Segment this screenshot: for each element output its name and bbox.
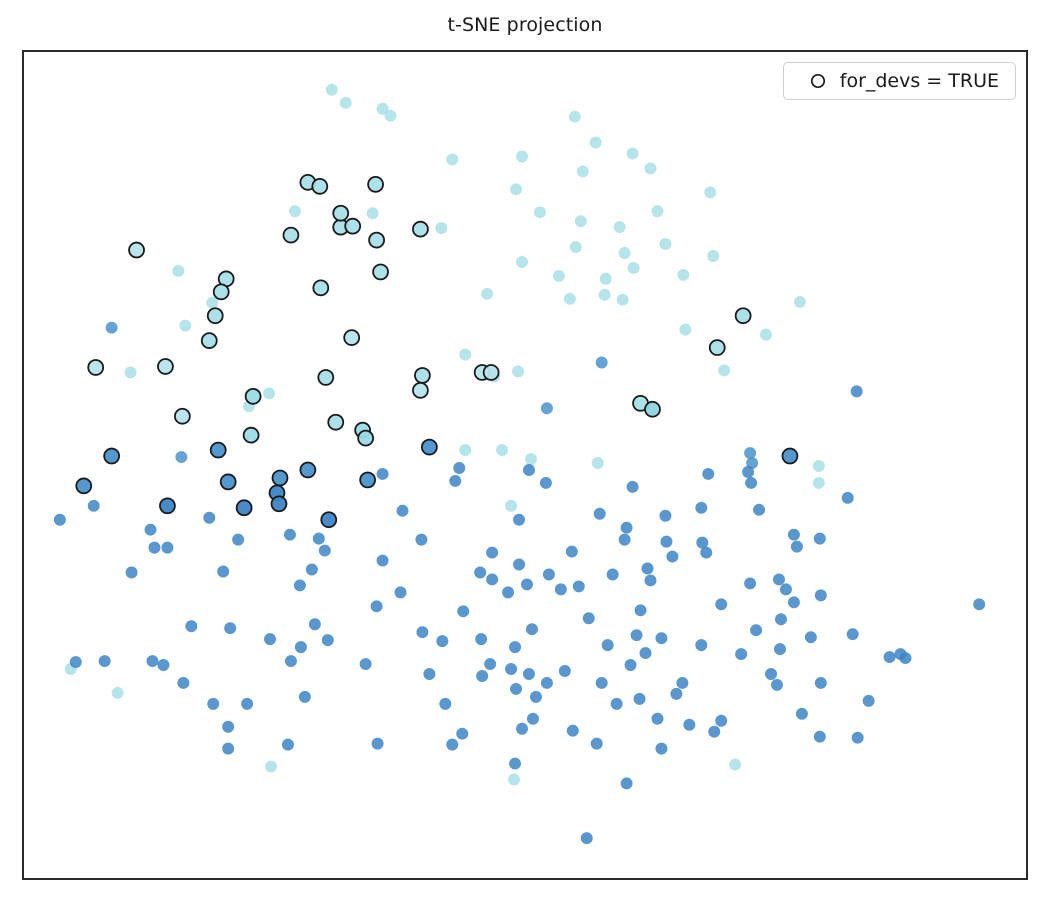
scatter-point: [265, 761, 277, 773]
scatter-point: [744, 447, 756, 459]
scatter-point: [607, 568, 619, 580]
scatter-point: [715, 598, 727, 610]
scatter-point: [513, 514, 525, 526]
scatter-point: [246, 389, 261, 404]
plot-area: for_devs = TRUE: [22, 50, 1028, 880]
scatter-point: [679, 324, 691, 336]
scatter-point: [224, 622, 236, 634]
scatter-point: [973, 598, 985, 610]
scatter-point: [436, 635, 448, 647]
scatter-point: [676, 677, 688, 689]
scatter-point: [416, 626, 428, 638]
scatter-point: [160, 498, 175, 513]
scatter-point: [126, 567, 138, 579]
scatter-point: [88, 360, 103, 375]
scatter-point: [851, 385, 863, 397]
scatter-point: [175, 451, 187, 463]
scatter-point: [372, 738, 384, 750]
scatter-point: [530, 691, 542, 703]
scatter-point: [371, 600, 383, 612]
scatter-point: [232, 534, 244, 546]
scatter-point: [263, 387, 275, 399]
scatter-point: [621, 777, 633, 789]
scatter-point: [510, 183, 522, 195]
scatter-point: [333, 206, 348, 221]
scatter-point: [385, 110, 397, 122]
scatter-point: [573, 580, 585, 592]
scatter-point: [526, 623, 538, 635]
scatter-point: [635, 604, 647, 616]
scatter-point: [707, 250, 719, 262]
scatter-point: [474, 567, 486, 579]
scatter-point: [596, 357, 608, 369]
scatter-point: [395, 586, 407, 598]
scatter-point: [244, 428, 259, 443]
scatter-point: [508, 774, 520, 786]
scatter-point: [300, 463, 315, 478]
scatter-point: [521, 578, 533, 590]
scatter-point: [88, 500, 100, 512]
scatter-point: [583, 612, 595, 624]
scatter-point: [435, 222, 447, 234]
scatter-point: [284, 529, 296, 541]
scatter-point: [423, 668, 435, 680]
scatter-point: [774, 643, 786, 655]
scatter-point: [619, 247, 631, 259]
scatter-point: [577, 165, 589, 177]
scatter-point: [312, 179, 327, 194]
scatter-point: [659, 238, 671, 250]
scatter-point: [158, 359, 173, 374]
scatter-point: [634, 693, 646, 705]
scatter-point: [369, 233, 384, 248]
scatter-point: [773, 573, 785, 585]
scatter-point: [125, 366, 137, 378]
scatter-point: [813, 477, 825, 489]
scatter-point: [708, 726, 720, 738]
scatter-point: [217, 566, 229, 578]
scatter-point: [782, 449, 797, 464]
scatter-point: [655, 743, 667, 755]
scatter-point: [729, 759, 741, 771]
scatter-point: [313, 280, 328, 295]
scatter-point: [760, 329, 772, 341]
scatter-point: [775, 613, 787, 625]
scatter-point: [592, 457, 604, 469]
scatter-point: [368, 177, 383, 192]
scatter-point: [543, 568, 555, 580]
scatter-point: [222, 721, 234, 733]
scatter-point: [700, 547, 712, 559]
scatter-point: [895, 648, 907, 660]
scatter-point: [569, 111, 581, 123]
scatter-point: [161, 542, 173, 554]
scatter-point: [237, 500, 252, 515]
scatter-point: [211, 443, 226, 458]
scatter-point: [611, 698, 623, 710]
scatter-point: [523, 464, 535, 476]
scatter-point: [397, 505, 409, 517]
scatter-point: [541, 677, 553, 689]
scatter-point: [283, 228, 298, 243]
legend-marker-open-circle-icon: [796, 72, 840, 90]
scatter-point: [631, 629, 643, 641]
scatter-point: [660, 536, 672, 548]
scatter-plot-svg: [24, 52, 1026, 878]
scatter-point: [813, 460, 825, 472]
scatter-point: [651, 713, 663, 725]
scatter-point: [509, 641, 521, 653]
scatter-point: [289, 205, 301, 217]
scatter-point: [309, 618, 321, 630]
scatter-point: [177, 677, 189, 689]
scatter-point: [628, 262, 640, 274]
scatter-point: [516, 151, 528, 163]
scatter-point: [645, 162, 657, 174]
scatter-point: [157, 659, 169, 671]
scatter-point: [863, 695, 875, 707]
scatter-point: [505, 663, 517, 675]
scatter-point: [590, 137, 602, 149]
legend-label: for_devs = TRUE: [840, 70, 999, 92]
scatter-point: [202, 333, 217, 348]
scatter-point: [527, 713, 539, 725]
scatter-point: [241, 698, 253, 710]
scatter-point: [175, 409, 190, 424]
scatter-point: [185, 620, 197, 632]
scatter-point: [677, 269, 689, 281]
scatter-point: [670, 688, 682, 700]
scatter-point: [627, 481, 639, 493]
scatter-point: [640, 647, 652, 659]
scatter-point: [513, 559, 525, 571]
scatter-point: [272, 496, 287, 511]
scatter-point: [273, 470, 288, 485]
scatter-point: [449, 475, 461, 487]
scatter-point: [481, 288, 493, 300]
scatter-point: [214, 284, 229, 299]
scatter-point: [540, 477, 552, 489]
scatter-point: [884, 651, 896, 663]
scatter-point: [502, 586, 514, 598]
scatter-point: [208, 308, 223, 323]
scatter-point: [559, 665, 571, 677]
scatter-point: [625, 659, 637, 671]
scatter-point: [453, 462, 465, 474]
scatter-point: [475, 633, 487, 645]
scatter-point: [852, 732, 864, 744]
scatter-point: [745, 477, 757, 489]
scatter-point: [814, 731, 826, 743]
scatter-point: [147, 655, 159, 667]
scatter-point: [771, 679, 783, 691]
scatter-point: [553, 270, 565, 282]
scatter-point: [655, 632, 667, 644]
scatter-point: [221, 474, 236, 489]
scatter-point: [328, 415, 343, 430]
scatter-point: [541, 402, 553, 414]
scatter-point: [735, 648, 747, 660]
scatter-point: [104, 449, 119, 464]
scatter-point: [512, 365, 524, 377]
scatter-point: [651, 205, 663, 217]
scatter-point: [599, 289, 611, 301]
scatter-point: [360, 472, 375, 487]
scatter-point: [794, 296, 806, 308]
scatter-point: [780, 583, 792, 595]
scatter-point: [555, 583, 567, 595]
scatter-point: [377, 468, 389, 480]
scatter-point: [299, 691, 311, 703]
scatter-point: [594, 508, 606, 520]
scatter-point: [446, 739, 458, 751]
scatter-point: [788, 529, 800, 541]
scatter-point: [222, 743, 234, 755]
scatter-point: [523, 668, 535, 680]
scatter-point: [367, 207, 379, 219]
scatter-point: [358, 431, 373, 446]
scatter-point: [306, 564, 318, 576]
scatter-point: [704, 186, 716, 198]
scatter-point: [602, 639, 614, 651]
scatter-point: [695, 639, 707, 651]
scatter-point: [484, 365, 499, 380]
scatter-point: [702, 468, 714, 480]
scatter-point: [600, 273, 612, 285]
scatter-point: [525, 453, 537, 465]
scatter-point: [172, 265, 184, 277]
scatter-layer: [24, 52, 1026, 878]
scatter-point: [76, 478, 91, 493]
scatter-point: [439, 698, 451, 710]
scatter-point: [614, 221, 626, 233]
plain-points-group: [54, 84, 985, 844]
scatter-point: [70, 656, 82, 668]
figure-container: t-SNE projection for_devs = TRUE: [0, 0, 1050, 900]
scatter-point: [149, 542, 161, 554]
scatter-point: [715, 715, 727, 727]
scatter-point: [750, 624, 762, 636]
scatter-point: [322, 634, 334, 646]
scatter-point: [145, 524, 157, 536]
scatter-point: [413, 383, 428, 398]
scatter-point: [321, 512, 336, 527]
scatter-point: [459, 444, 471, 456]
scatter-point: [753, 504, 765, 516]
scatter-point: [627, 148, 639, 160]
scatter-point: [476, 670, 488, 682]
scatter-point: [282, 739, 294, 751]
scatter-point: [54, 514, 66, 526]
scatter-point: [345, 219, 360, 234]
scatter-point: [642, 563, 654, 575]
scatter-point: [294, 579, 306, 591]
scatter-point: [742, 466, 754, 478]
scatter-point: [666, 551, 678, 563]
scatter-point: [814, 533, 826, 545]
scatter-point: [457, 605, 469, 617]
scatter-point: [791, 541, 803, 553]
scatter-point: [847, 628, 859, 640]
scatter-point: [581, 832, 593, 844]
scatter-point: [516, 723, 528, 735]
scatter-point: [815, 677, 827, 689]
legend[interactable]: for_devs = TRUE: [783, 62, 1016, 100]
scatter-point: [207, 698, 219, 710]
scatter-point: [796, 708, 808, 720]
scatter-point: [496, 444, 508, 456]
scatter-point: [446, 154, 458, 166]
scatter-point: [179, 320, 191, 332]
scatter-point: [373, 264, 388, 279]
scatter-point: [596, 677, 608, 689]
scatter-point: [295, 641, 307, 653]
scatter-point: [815, 589, 827, 601]
scatter-point: [509, 758, 521, 770]
scatter-point: [683, 719, 695, 731]
scatter-point: [319, 545, 331, 557]
scatter-point: [765, 668, 777, 680]
scatter-point: [645, 402, 660, 417]
scatter-point: [744, 577, 756, 589]
scatter-point: [326, 84, 338, 96]
scatter-point: [484, 658, 496, 670]
scatter-point: [106, 322, 118, 334]
scatter-point: [486, 573, 498, 585]
scatter-point: [264, 633, 276, 645]
scatter-point: [459, 349, 471, 361]
scatter-point: [564, 293, 576, 305]
scatter-point: [456, 728, 468, 740]
scatter-point: [619, 534, 631, 546]
scatter-point: [718, 364, 730, 376]
scatter-point: [570, 241, 582, 253]
scatter-point: [736, 308, 751, 323]
scatter-point: [505, 500, 517, 512]
scatter-point: [340, 97, 352, 109]
scatter-point: [645, 574, 657, 586]
scatter-point: [377, 555, 389, 567]
scatter-point: [788, 596, 800, 608]
scatter-point: [566, 546, 578, 558]
scatter-point: [510, 683, 522, 695]
scatter-point: [112, 687, 124, 699]
scatter-point: [659, 510, 671, 522]
scatter-point: [313, 533, 325, 545]
scatter-point: [575, 215, 587, 227]
scatter-point: [710, 340, 725, 355]
scatter-point: [695, 502, 707, 514]
scatter-point: [621, 522, 633, 534]
scatter-point: [413, 222, 428, 237]
scatter-point: [591, 738, 603, 750]
scatter-point: [318, 370, 333, 385]
scatter-point: [285, 655, 297, 667]
scatter-point: [842, 492, 854, 504]
scatter-point: [617, 294, 629, 306]
scatter-point: [567, 725, 579, 737]
scatter-point: [360, 658, 372, 670]
scatter-point: [805, 631, 817, 643]
scatter-point: [415, 534, 427, 546]
scatter-point: [203, 512, 215, 524]
scatter-point: [129, 243, 144, 258]
scatter-point: [415, 368, 430, 383]
scatter-point: [516, 256, 528, 268]
scatter-point: [99, 655, 111, 667]
scatter-point: [486, 547, 498, 559]
chart-title: t-SNE projection: [0, 13, 1050, 37]
scatter-point: [422, 440, 437, 455]
scatter-point: [344, 330, 359, 345]
scatter-point: [534, 206, 546, 218]
